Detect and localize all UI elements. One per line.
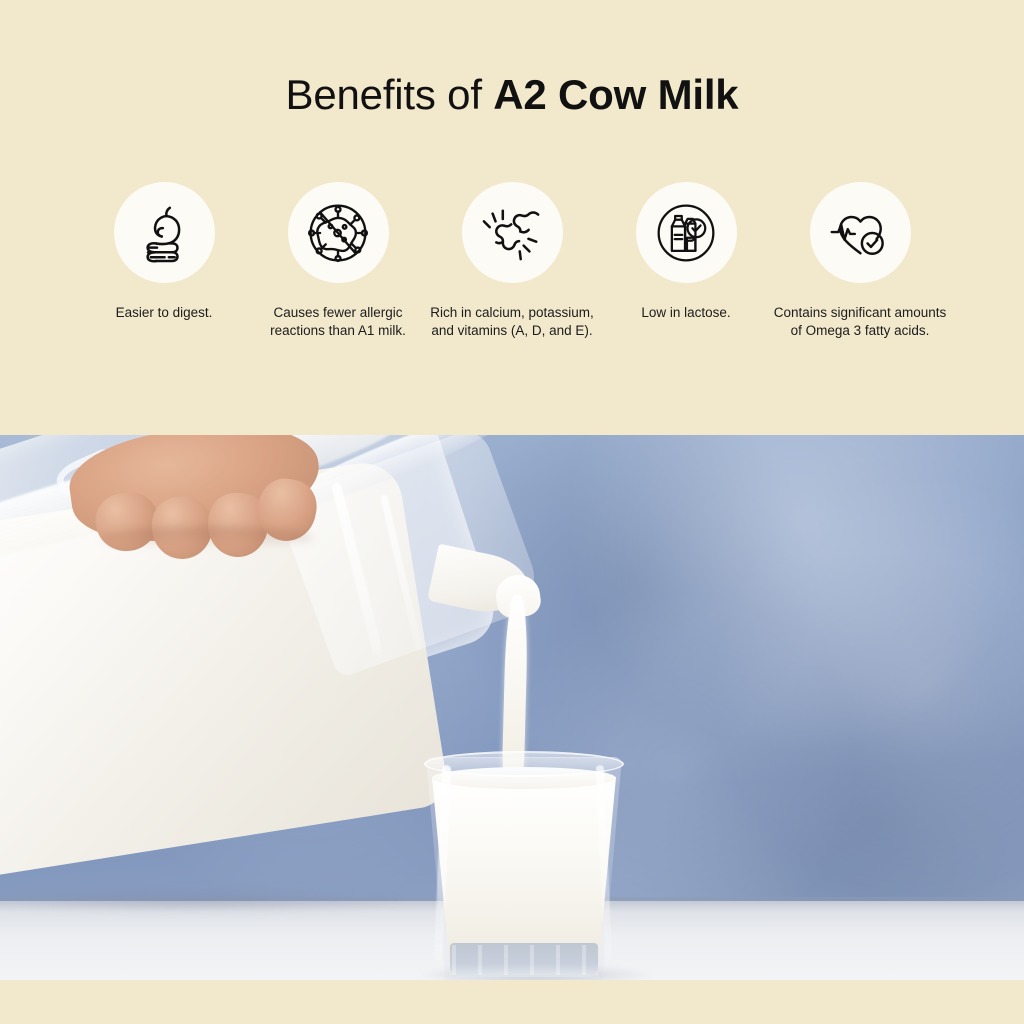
benefits-section: Benefits of A2 Cow Milk [0, 0, 1024, 435]
hand-shadow [100, 527, 314, 549]
benefit-caption-2: Causes fewer allergic reactions than A1 … [251, 304, 425, 340]
footer-band [0, 980, 1024, 1024]
benefit-item-5: Contains significant amounts of Omega 3 … [773, 182, 947, 340]
pitcher-shadow [0, 887, 400, 913]
heart-heartbeat-check-icon [827, 200, 893, 266]
benefit-item-2: Causes fewer allergic reactions than A1 … [251, 182, 425, 340]
benefit-icon-circle-4 [636, 182, 737, 283]
benefit-icon-circle-2 [288, 182, 389, 283]
page-title-regular: Benefits of [286, 71, 494, 118]
milk-carton-check-icon [653, 200, 719, 266]
infographic-root: Benefits of A2 Cow Milk [0, 0, 1024, 1024]
drinking-glass-rim [424, 751, 624, 777]
glass-base-facets [452, 945, 596, 975]
benefit-icon-circle-1 [114, 182, 215, 283]
benefit-caption-5: Contains significant amounts of Omega 3 … [773, 304, 947, 340]
stomach-digestion-icon [133, 202, 195, 264]
benefit-item-4: Low in lactose. [599, 182, 773, 322]
benefit-item-1: Easier to digest. [77, 182, 251, 322]
benefit-item-3: Rich in calcium, potassium, and vitamins… [425, 182, 599, 340]
milk-pour-photo [0, 435, 1024, 980]
no-allergen-germ-icon [305, 200, 371, 266]
benefit-caption-4: Low in lactose. [599, 304, 773, 322]
bone-joint-icon [481, 202, 543, 264]
benefits-list: Easier to digest. [77, 182, 947, 382]
page-title-bold: A2 Cow Milk [493, 71, 738, 118]
benefit-caption-3: Rich in calcium, potassium, and vitamins… [425, 304, 599, 340]
page-title: Benefits of A2 Cow Milk [0, 70, 1024, 120]
benefit-icon-circle-5 [810, 182, 911, 283]
benefit-icon-circle-3 [462, 182, 563, 283]
benefit-caption-1: Easier to digest. [77, 304, 251, 322]
